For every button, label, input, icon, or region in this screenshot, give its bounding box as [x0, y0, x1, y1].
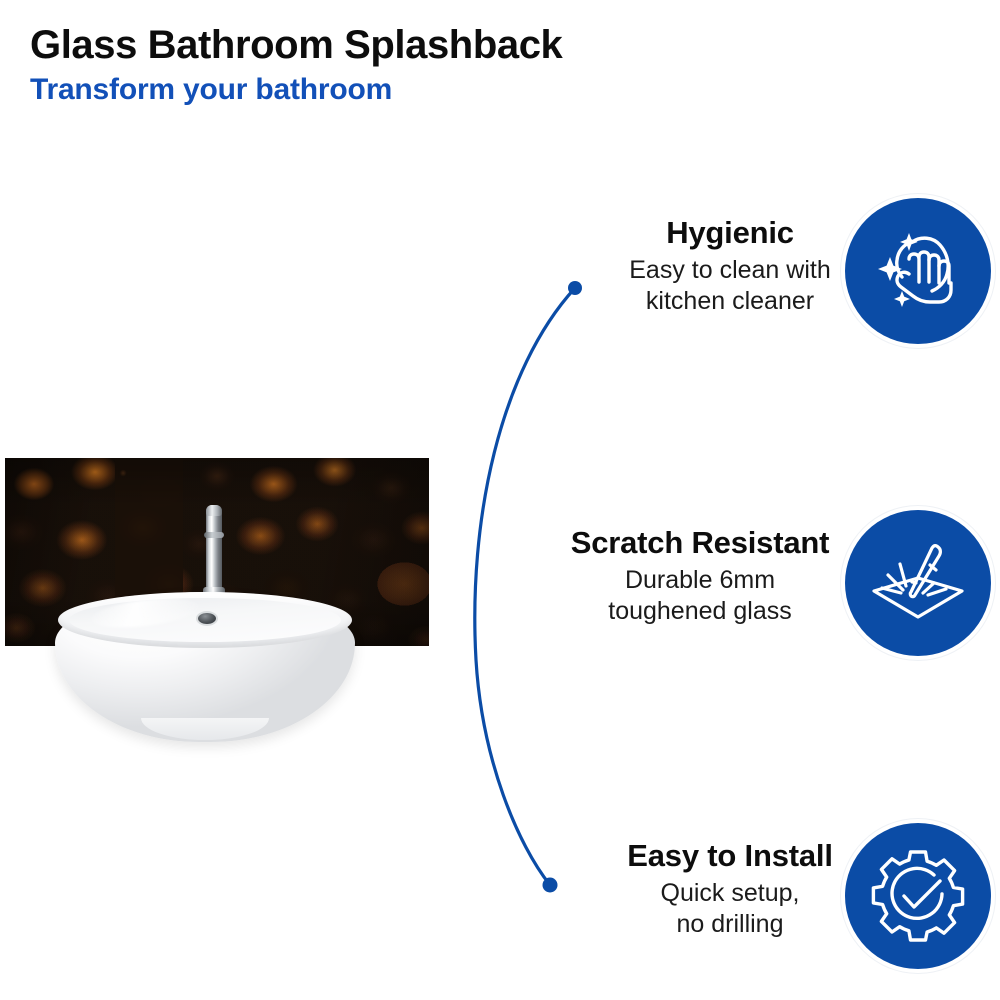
basin-drain-icon [198, 613, 216, 624]
feature-hygienic-desc-line-2: kitchen cleaner [646, 287, 814, 315]
faucet-body [206, 505, 222, 591]
connector-dot-bottom [543, 878, 558, 893]
hand-wiping-sparkle-icon [866, 219, 970, 323]
feature-scratch-desc-line-1: Durable 6mm [625, 566, 775, 594]
page-title: Glass Bathroom Splashback [30, 22, 830, 68]
faucet-lever [204, 532, 224, 538]
feature-hygienic-title: Hygienic [565, 215, 895, 251]
header: Glass Bathroom Splashback Transform your… [30, 22, 830, 109]
feature-install-desc-line-1: Quick setup, [661, 879, 800, 907]
infographic-page: Glass Bathroom Splashback Transform your… [0, 0, 1000, 1000]
knife-scratch-surface-icon [866, 531, 970, 635]
feature-install-title: Easy to Install [565, 838, 895, 874]
feature-scratch-text: Scratch Resistant Durable 6mm toughened … [535, 525, 865, 627]
page-subtitle: Transform your bathroom [30, 71, 830, 109]
feature-scratch-description: Durable 6mm toughened glass [535, 565, 865, 627]
ceramic-basin [55, 592, 355, 747]
feature-install-icon-badge [845, 823, 991, 969]
feature-install-desc-line-2: no drilling [676, 910, 783, 938]
gear-checkmark-icon [866, 844, 970, 948]
feature-hygienic-icon-badge [845, 198, 991, 344]
feature-scratch-title: Scratch Resistant [535, 525, 865, 561]
faucet-cap [206, 505, 222, 516]
chrome-faucet [203, 505, 225, 600]
feature-scratch-icon-badge [845, 510, 991, 656]
feature-scratch-desc-line-2: toughened glass [608, 597, 791, 625]
feature-hygienic-desc-line-1: Easy to clean with [629, 256, 831, 284]
